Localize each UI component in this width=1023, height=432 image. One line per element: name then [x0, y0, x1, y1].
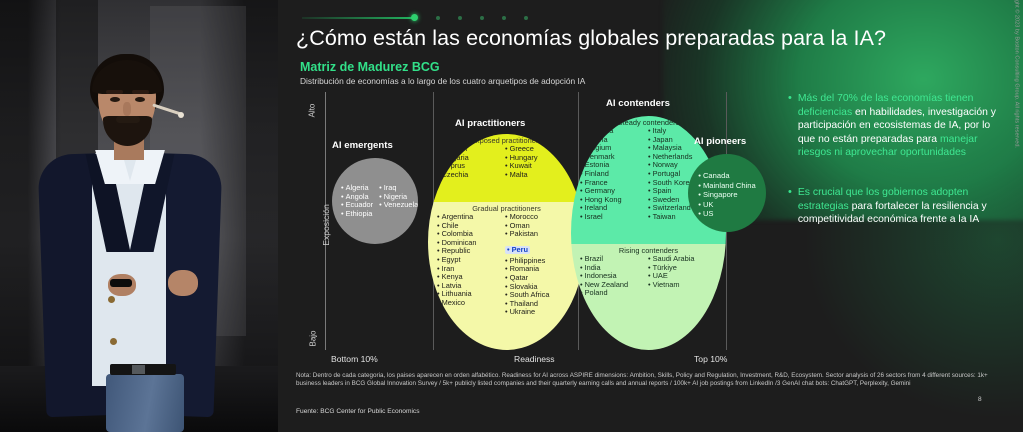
progress-dot-2[interactable] — [436, 16, 440, 20]
bubble-ai-practitioners[interactable]: Exposed practitioners Bahrain Bulgaria C… — [428, 134, 585, 350]
emergents-col-2: Iraq Nigeria Venezuela — [379, 184, 418, 218]
maturity-matrix-chart: Alto Exposición Bajo Bottom 10% Readines… — [296, 92, 776, 360]
gradual-col-2: Morocco Oman Pakistan Peru Philippines R… — [505, 213, 549, 317]
speaker-jacket-button-2 — [110, 338, 117, 345]
slide-progress-indicator[interactable] — [302, 14, 528, 21]
bullet-text-1: Más del 70% de las economías tienen defi… — [798, 92, 996, 160]
y-axis-tick-low: Bajo — [309, 330, 318, 346]
slide-subtitle: Matriz de Madurez BCG — [300, 60, 440, 74]
subgroup-exposed-practitioners: Exposed practitioners Bahrain Bulgaria C… — [428, 134, 585, 202]
speaker-eye-left — [110, 97, 120, 102]
list-item: Mainland China — [698, 181, 755, 191]
speaker-nose — [123, 102, 131, 116]
list-item: Pakistan — [505, 230, 549, 239]
gradual-col-1: Argentina Chile Colombia Dominican Repub… — [437, 213, 499, 317]
exposed-col-2: Greece Hungary Kuwait Malta — [505, 145, 538, 179]
bubble-ai-contenders[interactable]: Steady contenders Australia Austria Belg… — [571, 116, 726, 350]
steady-col-2: Italy Japan Malaysia Netherlands Norway … — [648, 127, 694, 222]
rising-col-1: Brazil India Indonesia New Zealand Polan… — [580, 255, 642, 298]
x-axis-tick-bottom: Bottom 10% — [331, 354, 378, 364]
list-item: US — [698, 209, 755, 219]
exposed-country-columns: Bahrain Bulgaria Cyprus Czechia Greece H… — [428, 145, 585, 179]
list-item: Poland — [580, 289, 642, 298]
presenter-clicker-icon — [110, 279, 132, 287]
progress-dot-5[interactable] — [502, 16, 506, 20]
list-item: Taiwan — [648, 213, 694, 222]
group-label-ai-contenders: AI contenders — [606, 98, 670, 109]
list-item: UK — [698, 200, 755, 210]
list-item: Venezuela — [379, 201, 418, 210]
pioneers-col-1: Canada Mainland China Singapore UK US — [698, 171, 755, 219]
progress-dot-6[interactable] — [524, 16, 528, 20]
speaker-eye-right — [135, 97, 145, 102]
list-item: Vietnam — [648, 281, 695, 290]
insights-bullet-list: • Más del 70% de las economías tienen de… — [788, 92, 996, 253]
slide-panel: ¿Cómo están las economías globales prepa… — [278, 0, 1023, 432]
bubble-ai-emergents[interactable]: Algeria Angola Ecuador Ethiopia Iraq Nig… — [332, 158, 418, 244]
speaker-moustache — [116, 116, 140, 123]
emergents-col-1: Algeria Angola Ecuador Ethiopia — [341, 184, 373, 218]
headset-microphone-icon — [178, 112, 184, 118]
emergents-country-columns: Algeria Angola Ecuador Ethiopia Iraq Nig… — [332, 158, 418, 218]
speaker-belt-buckle — [132, 365, 145, 374]
progress-bar-line — [302, 17, 414, 19]
bullet-item-1: • Más del 70% de las economías tienen de… — [788, 92, 996, 160]
bubble-ai-pioneers[interactable]: Canada Mainland China Singapore UK US — [688, 154, 766, 232]
speaker-eyebrow-right — [132, 90, 149, 94]
bullet-text-2: Es crucial que los gobiernos adopten est… — [798, 186, 996, 227]
list-item: Mexico — [437, 299, 499, 308]
bullet-item-2: • Es crucial que los gobiernos adopten e… — [788, 186, 996, 227]
list-item: Czechia — [437, 171, 499, 180]
progress-dot-3[interactable] — [458, 16, 462, 20]
x-axis-title: Readiness — [514, 354, 555, 364]
rising-col-2: Saudi Arabia Türkiye UAE Vietnam — [648, 255, 695, 298]
slide-vertical-copyright: Copyright © 2023 by Boston Consulting Gr… — [1013, 0, 1019, 148]
y-axis-tick-high: Alto — [307, 104, 316, 118]
slide-sub-subtitle: Distribución de economías a lo largo de … — [300, 76, 585, 86]
list-item: Singapore — [698, 190, 755, 200]
subgroup-gradual-practitioners: Gradual practitioners Argentina Chile Co… — [428, 202, 585, 350]
pioneers-country-columns: Canada Mainland China Singapore UK US — [688, 154, 766, 219]
progress-current-dot — [411, 14, 418, 21]
list-item-highlighted: Peru — [505, 246, 530, 255]
bullet-dot-icon: • — [788, 186, 792, 227]
list-item: Ukraine — [505, 308, 549, 317]
group-label-ai-emergents: AI emergents — [332, 140, 393, 151]
slide-source: Fuente: BCG Center for Public Economics — [296, 408, 420, 415]
gradual-country-columns: Argentina Chile Colombia Dominican Repub… — [428, 213, 585, 317]
list-item: Israel — [580, 213, 642, 222]
speaker-figure — [22, 46, 237, 432]
list-item: Malta — [505, 171, 538, 180]
speaker-eyebrow-left — [106, 90, 123, 94]
screenshot-root: ton Consulting Group. Al — [0, 0, 1023, 432]
steady-col-1: Australia Austria Belgium Denmark Estoni… — [580, 127, 642, 222]
list-item: Ethiopia — [341, 210, 373, 219]
progress-dot-4[interactable] — [480, 16, 484, 20]
speaker-jacket-button-1 — [108, 296, 115, 303]
group-label-ai-pioneers: AI pioneers — [694, 136, 746, 147]
list-item: Canada — [698, 171, 755, 181]
speaker-hand-right — [168, 270, 198, 296]
presentation-video-pane: ton Consulting Group. Al — [0, 0, 278, 432]
slide-page-number: 8 — [978, 396, 982, 403]
bullet-dot-icon: • — [788, 92, 792, 160]
rising-country-columns: Brazil India Indonesia New Zealand Polan… — [571, 255, 726, 298]
x-axis-tick-top: Top 10% — [694, 354, 727, 364]
subgroup-rising-contenders: Rising contenders Brazil India Indonesia… — [571, 244, 726, 350]
y-axis-title: Exposición — [321, 204, 331, 246]
slide-title: ¿Cómo están las economías globales prepa… — [296, 26, 886, 51]
exposed-col-1: Bahrain Bulgaria Cyprus Czechia — [437, 145, 499, 179]
speaker-jeans — [106, 374, 184, 432]
slide-footnote: Nota: Dentro de cada categoria, los pais… — [296, 372, 996, 388]
group-label-ai-practitioners: AI practitioners — [455, 118, 525, 129]
